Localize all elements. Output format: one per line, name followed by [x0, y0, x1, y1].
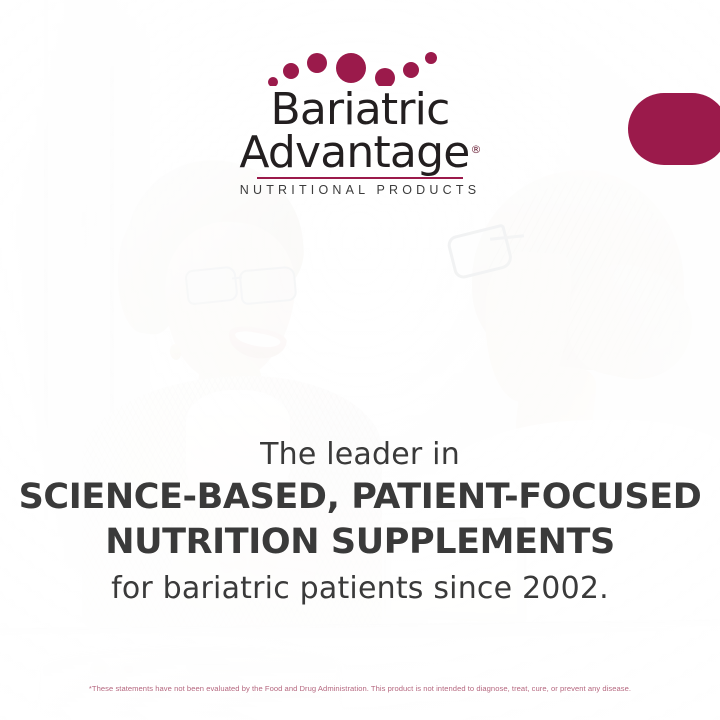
patient-teeth	[234, 329, 282, 350]
brand-logo: Bariatric Advantage® NUTRITIONAL PRODUCT…	[0, 52, 720, 197]
table-reflection	[40, 648, 340, 714]
logo-dots-icon	[255, 52, 465, 86]
logo-wordmark-line1: Bariatric	[0, 88, 720, 131]
headline-main-line1: SCIENCE-BASED, PATIENT-FOCUSED	[0, 476, 720, 519]
headline-block: The leader in SCIENCE-BASED, PATIENT-FOC…	[0, 436, 720, 608]
patient-glasses	[186, 268, 298, 302]
headline-tail: for bariatric patients since 2002.	[0, 570, 720, 608]
headline-main-line2: NUTRITION SUPPLEMENTS	[0, 521, 720, 564]
logo-tagline: NUTRITIONAL PRODUCTS	[0, 183, 720, 197]
logo-wordmark-line2: Advantage	[239, 127, 469, 178]
marketing-banner: Bariatric Advantage® NUTRITIONAL PRODUCT…	[0, 0, 720, 720]
registered-trademark-icon: ®	[470, 143, 480, 156]
logo-wordmark-line2-wrap: Advantage®	[239, 131, 480, 174]
glasses-lens-right	[239, 266, 298, 306]
table-object	[122, 664, 135, 675]
glasses-lens-left	[184, 265, 238, 305]
headline-lead: The leader in	[0, 436, 720, 474]
table-object	[188, 664, 248, 672]
legal-disclaimer: *These statements have not been evaluate…	[0, 684, 720, 693]
table-object	[92, 664, 108, 675]
